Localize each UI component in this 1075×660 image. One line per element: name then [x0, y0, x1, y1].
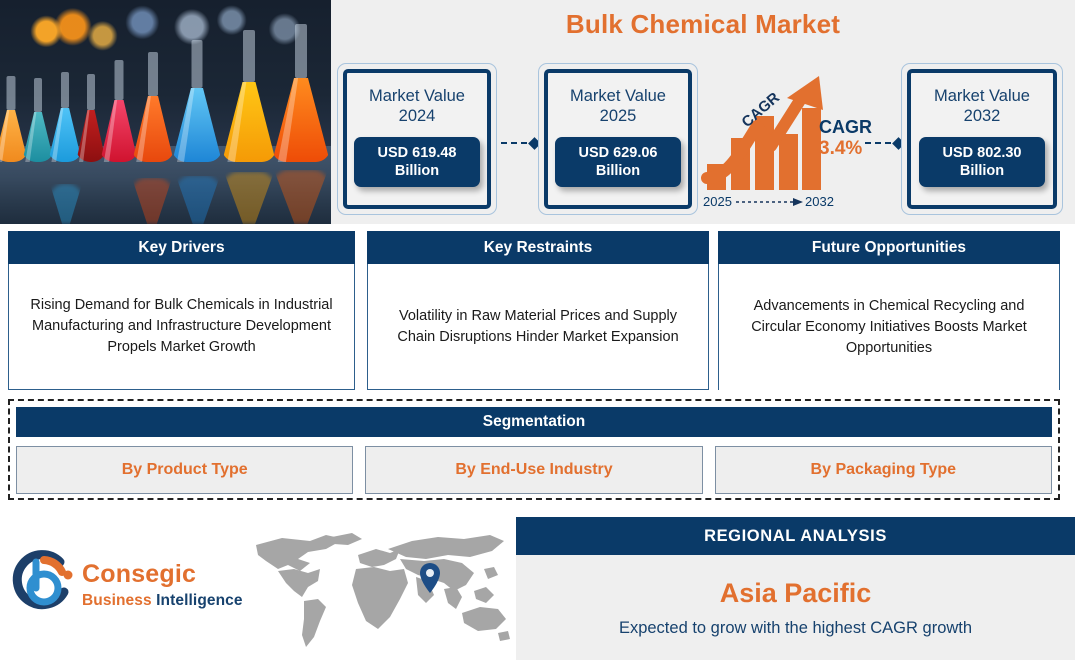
connector-2024-2025 — [501, 138, 539, 148]
regional-analysis-card: REGIONAL ANALYSIS Asia Pacific Expected … — [516, 517, 1075, 660]
market-value-card-2024: Market Value 2024 USD 619.48 Billion — [337, 63, 497, 215]
cagr-caption: CAGR — [819, 117, 872, 138]
world-map — [248, 525, 513, 653]
panel-future-opportunities: Future Opportunities Advancements in Che… — [718, 231, 1060, 390]
laboratory-flasks-photo — [0, 0, 331, 224]
logo-tagline-intelligence: Intelligence — [156, 592, 242, 609]
metrics-strip: Bulk Chemical Market Market Value 2024 U… — [331, 0, 1075, 224]
cagr-graphic: CAGR CAGR 3.4% 2025 2032 — [701, 68, 867, 214]
segment-by-packaging-type[interactable]: By Packaging Type — [715, 446, 1052, 494]
cagr-year-end: 2032 — [805, 194, 834, 209]
market-value-label-2032: Market Value — [934, 86, 1030, 106]
logo-tagline: Business Intelligence — [82, 592, 243, 610]
flask-8 — [222, 82, 276, 162]
market-value-card-2025: Market Value 2025 USD 629.06 Billion — [538, 63, 698, 215]
market-value-year-2025: 2025 — [600, 106, 637, 126]
market-value-label-2024: Market Value — [369, 86, 465, 106]
market-value-pill-2024: USD 619.48 Billion — [354, 137, 480, 187]
market-value-pill-2025: USD 629.06 Billion — [555, 137, 681, 187]
cagr-value: 3.4% — [819, 138, 862, 160]
panel-text-key-restraints: Volatility in Raw Material Prices and Su… — [367, 264, 709, 390]
segmentation-section: Segmentation By Product Type By End-Use … — [8, 399, 1060, 500]
logo-tagline-business: Business — [82, 592, 152, 609]
cagr-year-start: 2025 — [703, 194, 732, 209]
market-value-year-2024: 2024 — [399, 106, 436, 126]
infographic-page: Bulk Chemical Market Market Value 2024 U… — [0, 0, 1075, 660]
regional-analysis-region: Asia Pacific — [720, 578, 872, 609]
regional-analysis-note: Expected to grow with the highest CAGR g… — [619, 619, 972, 638]
segment-by-end-use-industry[interactable]: By End-Use Industry — [365, 446, 702, 494]
market-value-amount-2032: USD 802.30 — [930, 144, 1034, 162]
market-value-amount-2024: USD 619.48 — [365, 144, 469, 162]
market-value-pill-2032: USD 802.30 Billion — [919, 137, 1045, 187]
market-value-label-2025: Market Value — [570, 86, 666, 106]
segment-by-product-type[interactable]: By Product Type — [16, 446, 353, 494]
market-value-unit-2024: Billion — [365, 162, 469, 180]
market-value-card-2032: Market Value 2032 USD 802.30 Billion — [901, 63, 1063, 215]
panel-title-key-drivers: Key Drivers — [8, 231, 355, 264]
regional-analysis-heading: REGIONAL ANALYSIS — [516, 517, 1075, 555]
market-value-unit-2025: Billion — [566, 162, 670, 180]
market-value-year-2032: 2032 — [964, 106, 1001, 126]
logo-name: Consegic — [82, 560, 196, 589]
consegic-logo: Consegic Business Intelligence — [10, 548, 240, 624]
segmentation-title: Segmentation — [16, 407, 1052, 437]
panel-key-restraints: Key Restraints Volatility in Raw Materia… — [367, 231, 709, 390]
world-map-icon — [248, 525, 513, 653]
flask-6 — [132, 96, 174, 162]
panel-title-key-restraints: Key Restraints — [367, 231, 709, 264]
regional-analysis-body: Asia Pacific Expected to grow with the h… — [516, 555, 1075, 660]
panel-text-key-drivers: Rising Demand for Bulk Chemicals in Indu… — [8, 264, 355, 390]
analysis-panels: Key Drivers Rising Demand for Bulk Chemi… — [0, 231, 1075, 391]
flask-7 — [172, 88, 222, 162]
consegic-logo-mark — [10, 548, 76, 614]
market-value-amount-2025: USD 629.06 — [566, 144, 670, 162]
panel-key-drivers: Key Drivers Rising Demand for Bulk Chemi… — [8, 231, 355, 390]
connector-cagr-2032 — [865, 138, 903, 148]
page-title: Bulk Chemical Market — [331, 9, 1075, 40]
footer-section: Consegic Business Intelligence — [0, 508, 1075, 660]
flask-9 — [272, 78, 330, 162]
market-value-unit-2032: Billion — [930, 162, 1034, 180]
segmentation-items: By Product Type By End-Use Industry By P… — [16, 446, 1052, 494]
panel-text-future-opportunities: Advancements in Chemical Recycling and C… — [718, 264, 1060, 390]
top-section: Bulk Chemical Market Market Value 2024 U… — [0, 0, 1075, 224]
panel-title-future-opportunities: Future Opportunities — [718, 231, 1060, 264]
